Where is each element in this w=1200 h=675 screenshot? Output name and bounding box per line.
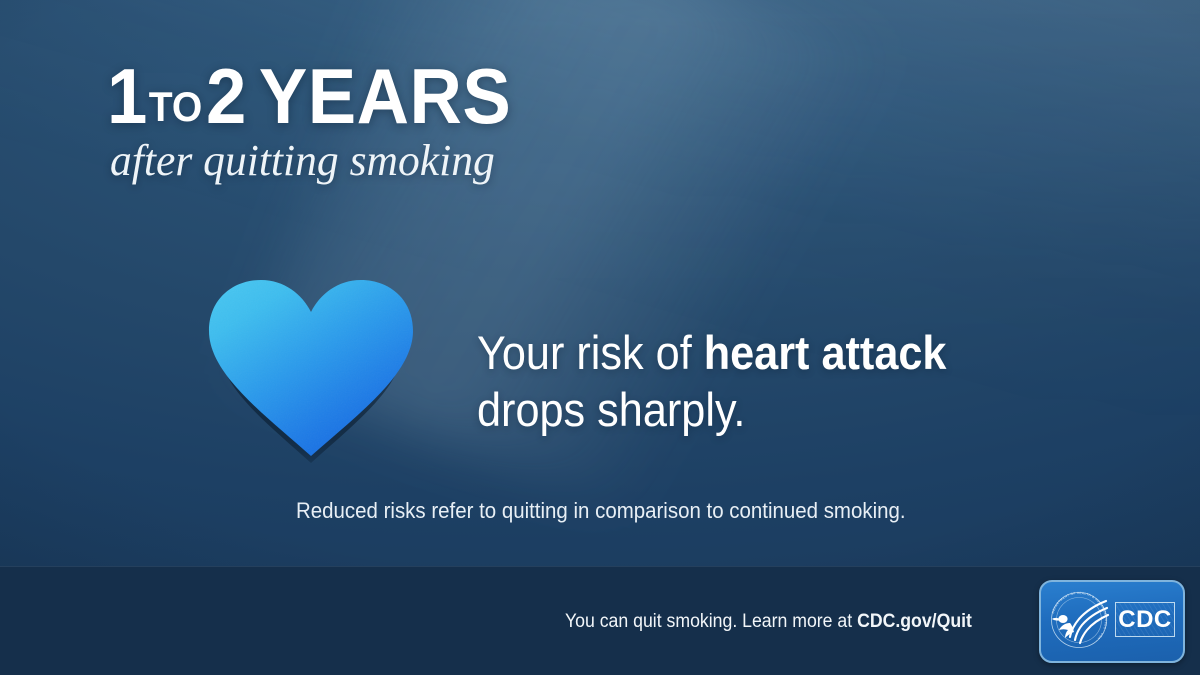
main-message: Your risk of heart attack drops sharply. [477, 324, 946, 438]
heart-icon [203, 277, 419, 458]
cdc-wordmark-text: CDC [1118, 608, 1172, 632]
cdc-quit-smoking-poster: 1TO2YEARS after quitting smoking [0, 0, 1200, 675]
footer-url[interactable]: CDC.gov/Quit [857, 611, 972, 632]
page-title: 1TO2YEARS [107, 57, 511, 135]
hhs-seal-icon: DEPARTMENT OF HEALTH & HUMAN SERVICES · … [1046, 587, 1112, 653]
headline-number-1: 1 [107, 52, 147, 140]
headline-to: TO [147, 83, 206, 130]
main-message-prefix: Your risk of [477, 326, 704, 379]
main-message-line-1: Your risk of heart attack [477, 324, 946, 381]
cdc-wordmark: CDC [1115, 602, 1175, 637]
footer-cta: You can quit smoking. Learn more at CDC.… [565, 612, 972, 631]
heart-illustration [203, 277, 419, 458]
headline-unit: YEARS [259, 52, 511, 140]
headline-number-2: 2 [206, 52, 246, 140]
cdc-logo[interactable]: DEPARTMENT OF HEALTH & HUMAN SERVICES · … [1039, 580, 1185, 663]
footer-cta-prefix: You can quit smoking. Learn more at [565, 611, 857, 632]
main-message-emphasis: heart attack [704, 326, 947, 379]
page-subtitle: after quitting smoking [110, 139, 495, 183]
main-message-line-2: drops sharply. [477, 381, 946, 438]
disclaimer-text: Reduced risks refer to quitting in compa… [296, 500, 906, 522]
